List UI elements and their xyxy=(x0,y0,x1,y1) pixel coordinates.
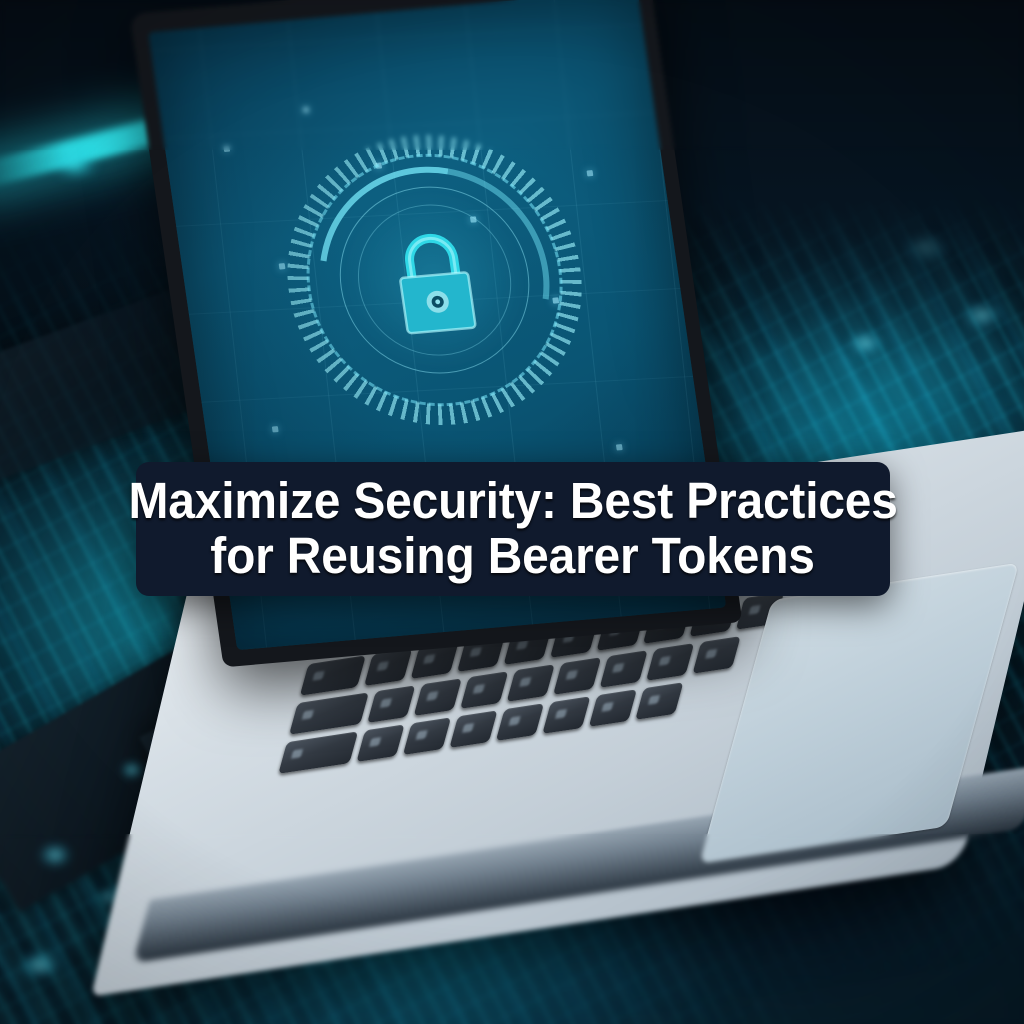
title-line-2: for Reusing Bearer Tokens xyxy=(211,529,815,584)
key[interactable] xyxy=(403,717,451,755)
key[interactable] xyxy=(589,689,637,727)
title-banner: Maximize Security: Best Practices for Re… xyxy=(136,462,890,596)
key[interactable] xyxy=(449,710,497,748)
key[interactable] xyxy=(289,692,369,734)
title-line-1: Maximize Security: Best Practices xyxy=(128,474,897,529)
key[interactable] xyxy=(553,657,601,695)
key[interactable] xyxy=(507,664,555,702)
key[interactable] xyxy=(542,696,590,734)
key[interactable] xyxy=(367,685,415,723)
key[interactable] xyxy=(300,655,366,695)
key[interactable] xyxy=(599,650,647,688)
key[interactable] xyxy=(496,703,544,741)
key[interactable] xyxy=(635,682,683,720)
key[interactable] xyxy=(414,678,462,716)
key[interactable] xyxy=(278,731,358,773)
key[interactable] xyxy=(460,671,508,709)
key[interactable] xyxy=(692,636,740,674)
graphic-canvas: Maximize Security: Best Practices for Re… xyxy=(0,0,1024,1024)
key[interactable] xyxy=(646,643,694,681)
key[interactable] xyxy=(356,724,404,762)
